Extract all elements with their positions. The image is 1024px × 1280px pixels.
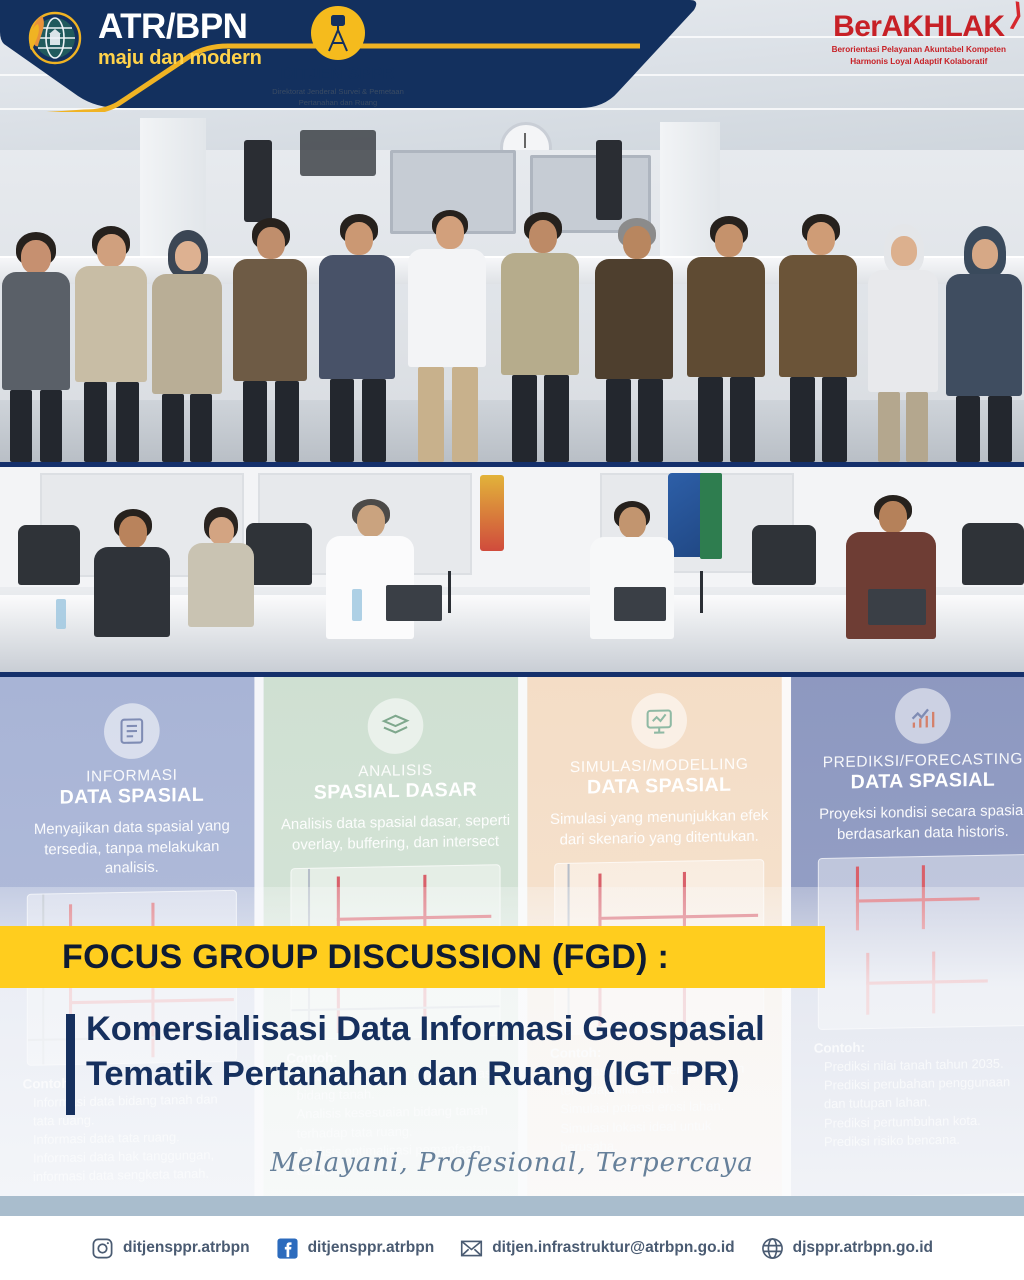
footer-band	[0, 1196, 1024, 1216]
footer-item-instagram[interactable]: ditjensppr.atrbpn	[91, 1237, 250, 1260]
participant	[186, 507, 256, 627]
water-bottle	[352, 589, 362, 621]
berakhlak-title: BerAKHLAK ⟩	[832, 10, 1006, 44]
footer-item-email[interactable]: ditjen.infrastruktur@atrbpn.go.id	[460, 1237, 734, 1260]
trend-bars-icon	[895, 688, 951, 745]
tagline: Melayani, Profesional, Terpercaya	[0, 1148, 1024, 1178]
globe-icon	[761, 1237, 784, 1260]
panel-desc: Menyajikan data spasial yang tersedia, t…	[16, 816, 247, 881]
speaker-box	[300, 130, 376, 176]
speaker-box	[596, 140, 622, 220]
sppr-title: DITJEN SPPR	[253, 64, 423, 84]
flag	[480, 475, 504, 551]
participant	[944, 226, 1024, 462]
sppr-subtitle-1: Direktorat Jenderal Survei & Pemetaan	[253, 86, 423, 97]
participant	[498, 212, 582, 462]
participant	[0, 232, 72, 462]
map-document-icon	[104, 703, 160, 760]
berakhlak-title-text: BerAKHLAK	[833, 10, 1004, 43]
instagram-icon	[91, 1237, 114, 1260]
footer-item-facebook[interactable]: ditjensppr.atrbpn	[276, 1237, 435, 1260]
laptop	[386, 585, 442, 621]
participant	[592, 218, 676, 462]
poster: INFORMASI DATA SPASIAL Menyajikan data s…	[0, 0, 1024, 1280]
monitor-chart-icon	[631, 693, 687, 750]
participant	[230, 218, 310, 462]
facebook-icon	[276, 1237, 299, 1260]
speaker-box	[244, 140, 272, 222]
participant	[776, 214, 860, 462]
footer-label-instagram: ditjensppr.atrbpn	[123, 1239, 250, 1257]
title-accent-bar	[66, 1014, 75, 1115]
participant	[404, 210, 490, 462]
participant	[72, 224, 150, 462]
panel-heading: SPASIAL DASAR	[280, 778, 511, 805]
main-title-line2: Tematik Pertanahan dan Ruang (IGT PR)	[86, 1052, 986, 1097]
chair	[18, 525, 80, 585]
speaker-person	[92, 509, 172, 637]
water-bottle	[56, 599, 66, 629]
fgd-banner-text: FOCUS GROUP DISCUSSION (FGD) :	[62, 938, 669, 977]
chair	[752, 525, 816, 585]
panel-desc: Simulasi yang menunjukkan efek dari sken…	[544, 806, 775, 851]
footer-label-facebook: ditjensppr.atrbpn	[308, 1239, 435, 1257]
laptop	[614, 587, 666, 621]
panel-heading: DATA SPASIAL	[544, 773, 775, 800]
berakhlak-logo-block: BerAKHLAK ⟩ Berorientasi Pelayanan Akunt…	[832, 10, 1006, 67]
email-icon	[460, 1237, 483, 1260]
panel-heading: DATA SPASIAL	[16, 783, 247, 810]
sppr-subtitle-2: Pertanahan dan Ruang	[253, 97, 423, 108]
panel-desc: Analisis data spasial dasar, seperti ove…	[280, 811, 511, 856]
participant	[150, 230, 224, 462]
footer-label-email: ditjen.infrastruktur@atrbpn.go.id	[492, 1239, 734, 1257]
layers-map-icon	[368, 698, 424, 755]
berakhlak-sub-2: Harmonis Loyal Adaptif Kolaboratif	[832, 57, 1006, 68]
footer-label-website: djsppr.atrbpn.go.id	[793, 1239, 933, 1257]
participant	[866, 224, 940, 462]
participant	[316, 214, 398, 462]
panel-heading: DATA SPASIAL	[808, 768, 1024, 795]
fgd-banner: FOCUS GROUP DISCUSSION (FGD) :	[0, 926, 825, 988]
brand-name: ATR/BPN	[98, 9, 262, 44]
microphone	[448, 571, 451, 613]
panel-discussion-photo	[0, 467, 1024, 672]
main-title: Komersialisasi Data Informasi Geospasial…	[86, 1007, 986, 1097]
brand-slogan: maju dan modern	[98, 48, 262, 68]
theodolite-icon	[311, 6, 365, 60]
atr-bpn-brand: ATR/BPN maju dan modern	[22, 6, 262, 70]
laptop	[868, 589, 926, 625]
microphone	[700, 571, 703, 613]
panel-desc: Proyeksi kondisi secara spasial berdasar…	[808, 801, 1024, 846]
footer: ditjensppr.atrbpn ditjensppr.atrbpn ditj…	[0, 1216, 1024, 1280]
main-title-line1: Komersialisasi Data Informasi Geospasial	[86, 1007, 986, 1052]
participant	[684, 216, 768, 462]
footer-item-website[interactable]: djsppr.atrbpn.go.id	[761, 1237, 933, 1260]
bpn-globe-logo	[22, 6, 86, 70]
chair	[962, 523, 1024, 585]
berakhlak-sub-1: Berorientasi Pelayanan Akuntabel Kompete…	[832, 45, 1006, 56]
flag	[700, 473, 722, 559]
ditjen-sppr-logo-block: DITJEN SPPR Direktorat Jenderal Survei &…	[253, 6, 423, 108]
